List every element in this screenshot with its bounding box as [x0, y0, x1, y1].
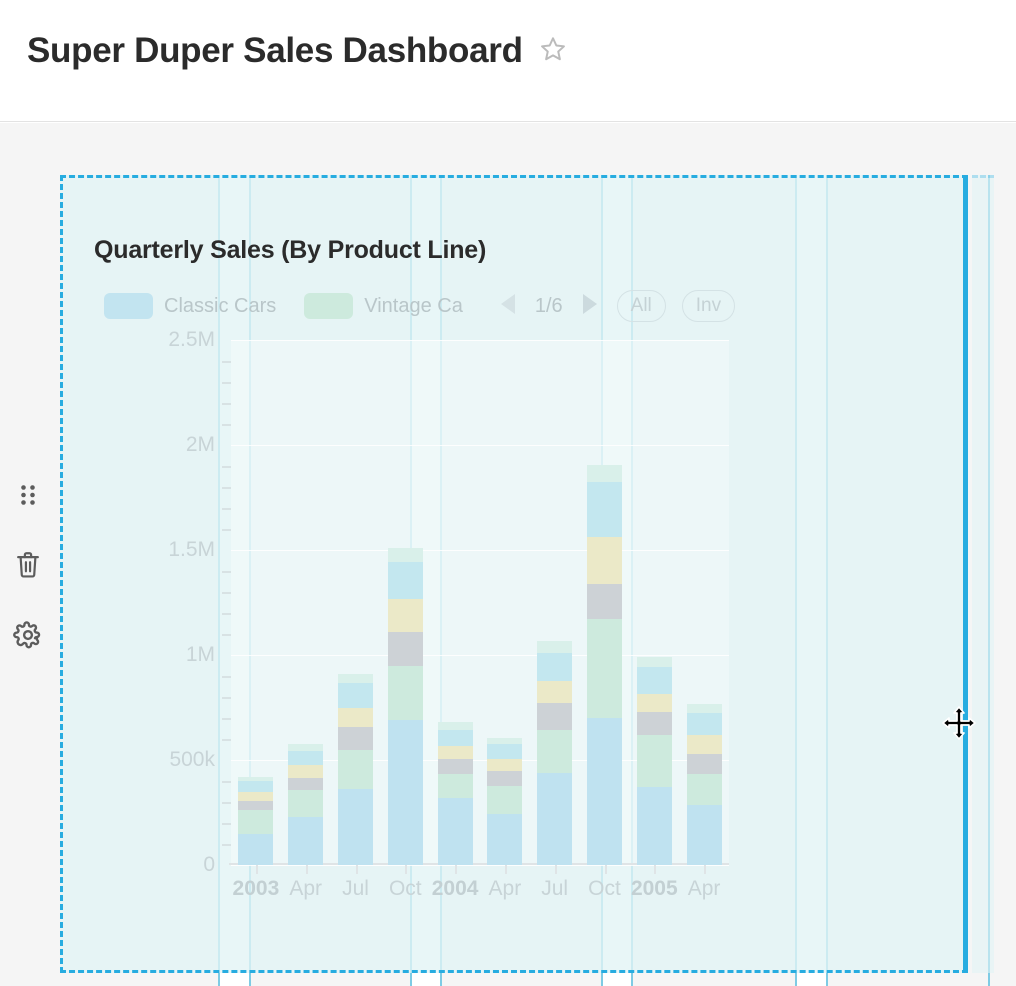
chart-bar-segment	[537, 773, 572, 865]
chart-bar-segment	[338, 674, 373, 683]
header-title-row: Super Duper Sales Dashboard	[27, 31, 567, 71]
chart-bar-segment	[338, 789, 373, 865]
chart-bar-segment	[587, 537, 622, 583]
y-axis-minor-tick	[222, 781, 231, 783]
y-axis-minor-tick	[222, 613, 231, 615]
chart-bar[interactable]	[438, 722, 473, 865]
chart-area: 0500k1M1.5M2M2.5M2003AprJulOct2004AprJul…	[63, 328, 971, 938]
y-gridline	[231, 445, 729, 446]
legend-swatch-vintage-cars	[304, 293, 353, 319]
y-axis-minor-tick	[222, 508, 231, 510]
chart-bar-segment	[438, 759, 473, 774]
y-axis-label: 2.5M	[168, 328, 215, 352]
legend-label-vintage-cars: Vintage Ca	[364, 295, 463, 318]
x-axis-label: 2003	[233, 877, 280, 901]
chart-bar-segment	[388, 562, 423, 600]
dashboard-widget-quarterly-sales[interactable]: Quarterly Sales (By Product Line) Classi…	[60, 175, 968, 973]
x-axis-label: 2005	[631, 877, 678, 901]
y-axis-minor-tick	[222, 802, 231, 804]
y-axis-label: 2M	[186, 433, 215, 457]
chart-bar-segment	[537, 641, 572, 653]
drag-handle-icon[interactable]	[11, 478, 45, 512]
x-axis-tick	[505, 865, 507, 874]
x-axis-label: Apr	[489, 877, 522, 901]
chart-bar-segment	[637, 667, 672, 694]
chart-bar-segment	[438, 774, 473, 798]
gear-icon[interactable]	[11, 618, 45, 652]
x-axis-tick	[256, 865, 258, 874]
chart-bar-segment	[438, 722, 473, 729]
chart-bar-segment	[238, 810, 273, 833]
chart-bar-segment	[338, 750, 373, 790]
chart-bar-segment	[238, 781, 273, 792]
chart-bar-segment	[587, 619, 622, 718]
chart-bar-segment	[438, 730, 473, 747]
x-axis-label: Apr	[289, 877, 322, 901]
chart-bar-segment	[637, 735, 672, 788]
chart-bar-segment	[388, 666, 423, 721]
x-axis-tick	[605, 865, 607, 874]
widget-title: Quarterly Sales (By Product Line)	[94, 236, 486, 265]
x-axis-label: Jul	[541, 877, 568, 901]
chart-bar-segment	[687, 805, 722, 865]
chart-bar-segment	[388, 632, 423, 666]
chart-bar-segment	[487, 786, 522, 813]
chart-plot[interactable]: 0500k1M1.5M2M2.5M2003AprJulOct2004AprJul…	[231, 340, 729, 865]
chart-bar-segment	[238, 801, 273, 810]
chart-bar-segment	[338, 727, 373, 749]
chart-bar[interactable]	[687, 704, 722, 865]
chart-bar-segment	[637, 712, 672, 735]
y-axis-minor-tick	[222, 361, 231, 363]
legend-select-all-button[interactable]: All	[617, 290, 666, 323]
chart-bar-segment	[288, 778, 323, 791]
legend-prev-page-icon[interactable]	[497, 291, 521, 322]
chart-bar-segment	[238, 792, 273, 801]
chart-bar-segment	[338, 708, 373, 728]
chart-bar-segment	[537, 730, 572, 773]
y-axis-minor-tick	[222, 592, 231, 594]
chart-bar[interactable]	[338, 674, 373, 865]
legend-swatch-classic-cars	[104, 293, 153, 319]
y-axis-minor-tick	[222, 739, 231, 741]
widget-tool-rail	[8, 478, 48, 652]
x-axis-tick	[356, 865, 358, 874]
legend-item-classic-cars[interactable]: Classic Cars	[104, 293, 276, 319]
chart-bar-segment	[487, 814, 522, 865]
x-axis-tick	[654, 865, 656, 874]
x-axis-tick	[306, 865, 308, 874]
x-axis-label: Jul	[342, 877, 369, 901]
chart-bar-segment	[587, 584, 622, 620]
y-axis-label: 1M	[186, 643, 215, 667]
chart-bar-segment	[687, 774, 722, 806]
y-axis-minor-tick	[222, 403, 231, 405]
chart-bar-segment	[537, 681, 572, 703]
legend-invert-button[interactable]: Inv	[682, 290, 735, 323]
chart-bar-segment	[388, 599, 423, 632]
app-header: Super Duper Sales Dashboard	[0, 0, 1016, 122]
chart-bar-segment	[438, 798, 473, 865]
chart-bar-segment	[388, 548, 423, 562]
y-axis-minor-tick	[222, 424, 231, 426]
chart-bar-segment	[587, 482, 622, 538]
y-axis-minor-tick	[222, 634, 231, 636]
chart-bar[interactable]	[587, 465, 622, 865]
chart-bar-segment	[587, 465, 622, 482]
legend-pagination: 1/6	[497, 291, 601, 322]
page-title: Super Duper Sales Dashboard	[27, 31, 523, 71]
adjacent-grid-column	[972, 175, 994, 973]
x-axis-label: 2004	[432, 877, 479, 901]
x-axis-tick	[704, 865, 706, 874]
y-axis-minor-tick	[222, 697, 231, 699]
x-axis-label: Apr	[688, 877, 721, 901]
chart-bar-segment	[288, 790, 323, 816]
trash-icon[interactable]	[11, 548, 45, 582]
chart-bar-segment	[637, 787, 672, 865]
legend-item-vintage-cars[interactable]: Vintage Ca	[304, 293, 463, 319]
chart-bar[interactable]	[637, 657, 672, 865]
chart-bar-segment	[687, 735, 722, 754]
legend-page-indicator: 1/6	[535, 295, 563, 318]
legend-label-classic-cars: Classic Cars	[164, 295, 276, 318]
star-outline-icon[interactable]	[539, 35, 567, 68]
chart-bar-segment	[587, 718, 622, 865]
chart-bar-segment	[388, 720, 423, 865]
chart-bar-segment	[338, 683, 373, 707]
chart-bar[interactable]	[288, 744, 323, 865]
chart-bar-segment	[687, 754, 722, 774]
chart-bar-segment	[288, 765, 323, 778]
chart-bar-segment	[537, 703, 572, 729]
y-axis-label: 0	[203, 853, 215, 877]
y-axis-minor-tick	[222, 718, 231, 720]
dashboard-canvas[interactable]: Quarterly Sales (By Product Line) Classi…	[0, 123, 1016, 986]
chart-bar-segment	[288, 817, 323, 865]
chart-bar-segment	[487, 744, 522, 759]
chart-bar-segment	[238, 834, 273, 866]
chart-bar-segment	[288, 751, 323, 766]
y-axis-minor-tick	[222, 823, 231, 825]
x-axis-label: Oct	[389, 877, 422, 901]
y-gridline	[231, 340, 729, 341]
x-axis-tick	[555, 865, 557, 874]
y-axis-minor-tick	[222, 844, 231, 846]
y-axis-minor-tick	[222, 487, 231, 489]
chart-bar[interactable]	[238, 777, 273, 865]
y-gridline	[231, 550, 729, 551]
chart-bar[interactable]	[537, 641, 572, 865]
chart-bar-segment	[687, 704, 722, 712]
y-axis-label: 1.5M	[168, 538, 215, 562]
chart-bar-segment	[487, 759, 522, 771]
chart-bar[interactable]	[388, 548, 423, 865]
chart-bar-segment	[637, 657, 672, 666]
y-axis-label: 500k	[169, 748, 215, 772]
y-axis-minor-tick	[222, 466, 231, 468]
y-axis-minor-tick	[222, 676, 231, 678]
chart-bar-segment	[537, 653, 572, 681]
y-axis-minor-tick	[222, 529, 231, 531]
chart-bar-segment	[687, 713, 722, 735]
chart-bar-segment	[438, 746, 473, 759]
x-axis-tick	[455, 865, 457, 874]
chart-bar-segment	[637, 694, 672, 712]
y-gridline	[231, 655, 729, 656]
chart-bar-segment	[487, 771, 522, 787]
chart-legend: Classic Cars Vintage Ca 1/6 All Inv	[104, 291, 735, 321]
legend-next-page-icon[interactable]	[577, 291, 601, 322]
x-axis-label: Oct	[588, 877, 621, 901]
chart-bar[interactable]	[487, 738, 522, 865]
y-axis-minor-tick	[222, 571, 231, 573]
x-axis-tick	[405, 865, 407, 874]
y-axis-minor-tick	[222, 382, 231, 384]
